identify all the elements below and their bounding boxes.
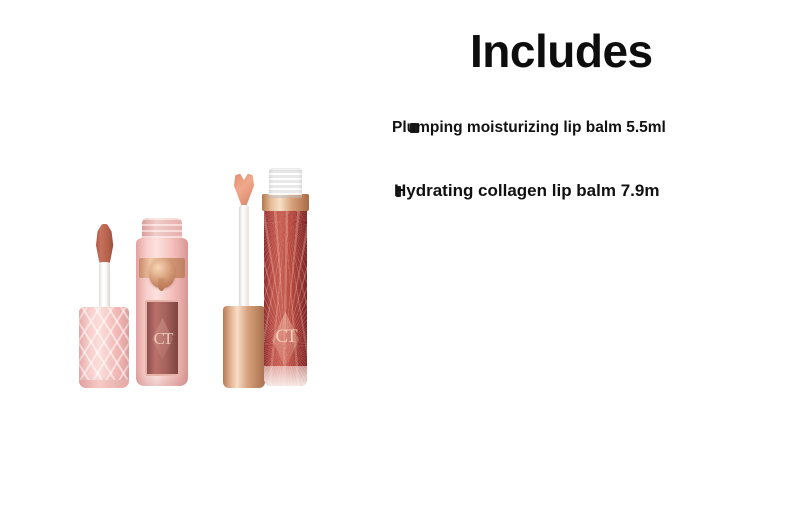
cap-rim (79, 380, 129, 388)
ct-monogram-icon: CT (151, 322, 174, 356)
clear-ribbed-top (269, 168, 302, 198)
applicator-wand (239, 205, 249, 315)
page-title: Includes (470, 28, 653, 74)
ct-monogram-icon: CT (272, 322, 299, 352)
gold-emblem-icon (149, 258, 175, 288)
tube-base (264, 366, 307, 386)
rose-gold-cap (223, 306, 265, 388)
includes-item-2: Hydrating collagen lip balm 7.9m (394, 182, 659, 199)
quilted-cap (79, 307, 129, 387)
product-includes-panel: Includes Plumping moisturizing lip balm … (0, 0, 800, 512)
includes-item-1: Plumping moisturizing lip balm 5.5ml (392, 120, 666, 136)
